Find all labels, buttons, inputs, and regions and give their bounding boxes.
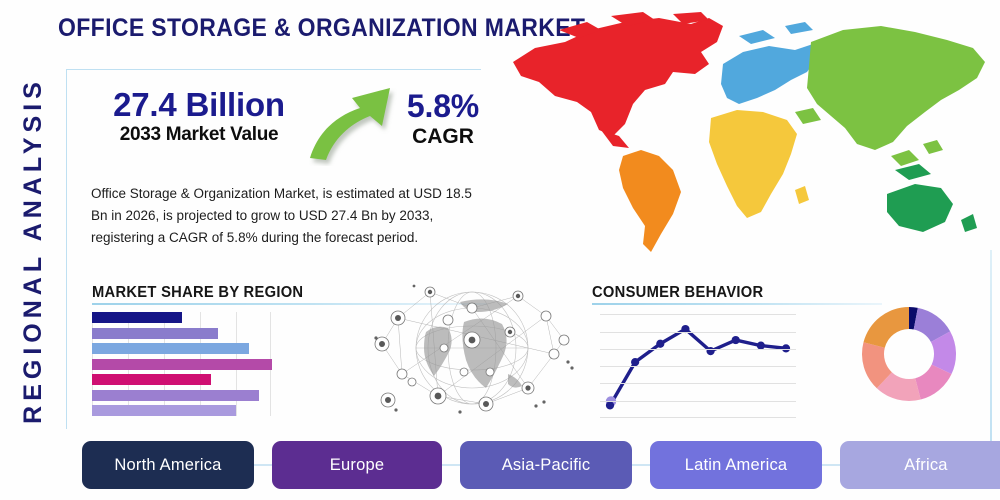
right-edge-rule	[990, 250, 992, 450]
bar-segment	[92, 390, 259, 401]
region-connector	[254, 464, 272, 466]
section-rule-consumer-behavior	[592, 303, 882, 305]
bar-row	[92, 312, 272, 323]
kpi-market-value-number: 27.4 Billion	[84, 88, 314, 123]
region-button-europe[interactable]: Europe	[272, 441, 442, 489]
bar-row	[92, 328, 272, 339]
global-network-globe-icon	[368, 278, 576, 420]
bar-row	[92, 405, 272, 416]
kpi-market-value: 27.4 Billion 2033 Market Value	[84, 88, 314, 145]
bar-segment	[92, 343, 249, 354]
bar-row	[92, 359, 272, 370]
map-region-south-america	[619, 150, 681, 252]
bar-segment	[92, 328, 218, 339]
region-connector	[822, 464, 840, 466]
donut-chart-plot	[858, 303, 960, 405]
bar-row	[92, 374, 272, 385]
donut-chart	[858, 303, 960, 405]
map-region-oceania	[887, 184, 953, 232]
bar-segment	[92, 405, 236, 416]
region-buttons-bar: North AmericaEuropeAsia-PacificLatin Ame…	[82, 441, 992, 489]
region-connector	[442, 464, 460, 466]
world-map	[495, 8, 993, 270]
section-heading-market-share: MARKET SHARE BY REGION	[92, 284, 303, 302]
map-region-africa	[709, 110, 797, 218]
map-region-europe	[721, 44, 817, 104]
side-label-text: REGIONAL ANALYSIS	[19, 77, 48, 424]
bar-segment	[92, 359, 272, 370]
consumer-behavior-line-chart	[600, 310, 796, 418]
bar-row	[92, 343, 272, 354]
growth-arrow-up-icon	[306, 80, 402, 166]
map-region-north-america	[513, 18, 723, 136]
line-chart-gridlines	[600, 310, 796, 418]
bar-segment	[92, 374, 211, 385]
description-text: Office Storage & Organization Market, is…	[91, 183, 491, 249]
region-button-asia-pacific[interactable]: Asia-Pacific	[460, 441, 632, 489]
kpi-cagr-label: CAGR	[389, 125, 497, 149]
bar-chart-rows	[92, 312, 272, 416]
side-label-regional-analysis: REGIONAL ANALYSIS	[10, 55, 56, 445]
region-button-africa[interactable]: Africa	[840, 441, 1000, 489]
region-button-latin-america[interactable]: Latin America	[650, 441, 822, 489]
kpi-cagr-number: 5.8%	[389, 90, 497, 124]
section-heading-consumer-behavior: CONSUMER BEHAVIOR	[592, 284, 763, 302]
bar-row	[92, 390, 272, 401]
bar-segment	[92, 312, 182, 323]
kpi-cagr: 5.8% CAGR	[389, 90, 497, 149]
kpi-market-value-label: 2033 Market Value	[84, 124, 314, 146]
donut-segment	[863, 307, 909, 348]
market-share-bar-chart	[92, 312, 272, 416]
region-button-north-america[interactable]: North America	[82, 441, 254, 489]
kpi-row: 27.4 Billion 2033 Market Value 5.8% CAGR	[84, 88, 504, 168]
map-region-asia	[807, 26, 985, 150]
region-connector	[632, 464, 650, 466]
infographic-root: REGIONAL ANALYSIS OFFICE STORAGE & ORGAN…	[0, 0, 1000, 500]
